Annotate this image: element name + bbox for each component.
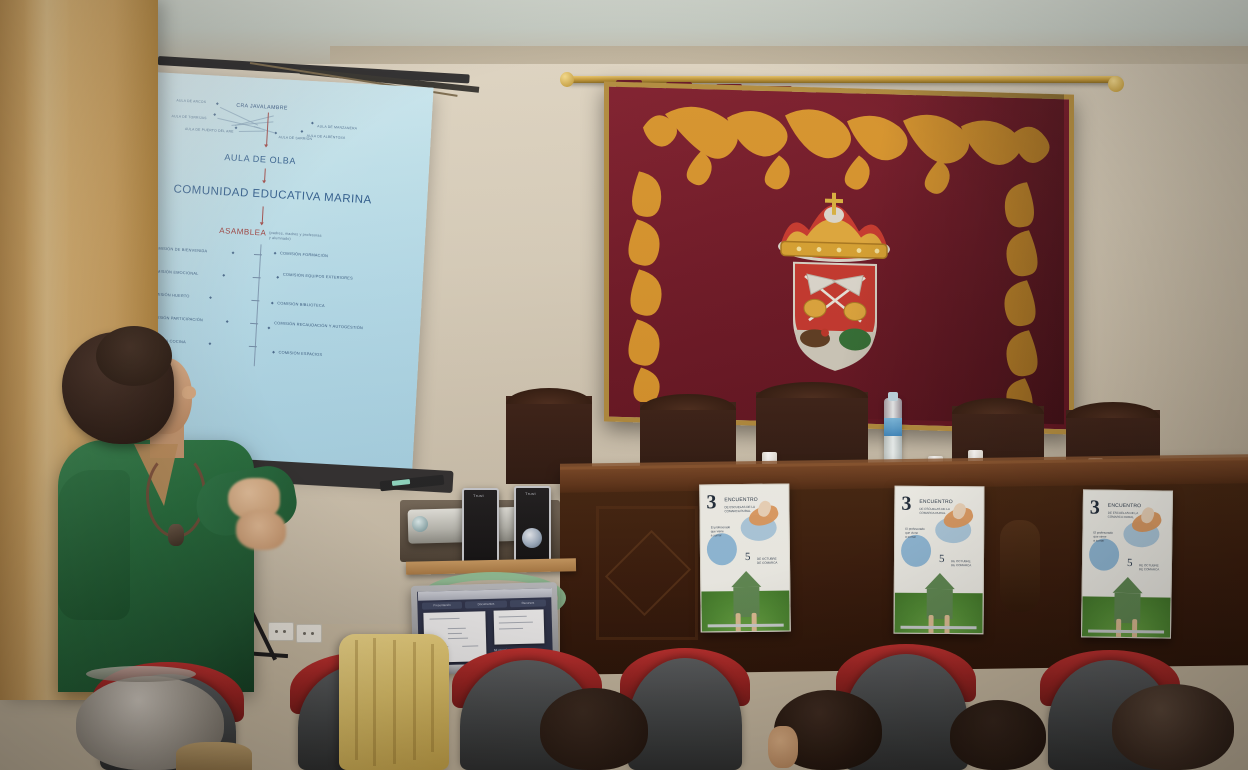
tapestry-shading (604, 82, 1064, 425)
poster-body: El profesorado que viene a sumar (711, 525, 731, 537)
poster-title: ENCUENTRO (1108, 503, 1142, 509)
poster-cloud (1089, 538, 1119, 570)
slide-commission-right: COMISIÓN BIBLIOTECA (277, 300, 325, 308)
slide-arrow-head (264, 144, 268, 147)
poster-cloud (901, 535, 931, 567)
poster-subtitle: DE ESCUELAS DE LA COMARCA RURAL (1108, 511, 1139, 520)
poster-number: 3 (901, 493, 911, 516)
presenter-hand (236, 510, 286, 550)
slide-commission-bullet (272, 351, 275, 354)
slide-commission-bullet (209, 342, 212, 345)
audience-hand (768, 726, 798, 768)
poster-house-leg (944, 615, 949, 634)
wall-socket (268, 622, 294, 641)
bottle-label (884, 418, 902, 436)
slide-level3-note: (padres, madres y profesoras y alumnado) (269, 231, 322, 244)
poster-house-leg (928, 615, 933, 634)
slide-arrow-head (260, 222, 264, 225)
slide-commission-right: COMISIÓN FORMACIÓN (280, 250, 328, 258)
bottle-cap (888, 392, 898, 401)
speaker-brand-label: Trust (525, 491, 536, 496)
presenter-nose (182, 386, 196, 399)
poster-house-leg (752, 613, 757, 633)
slide-satellite-bullet (311, 122, 314, 125)
slide-arrow-head (262, 180, 266, 183)
poster-subtitle: DE ESCUELAS DE LA COMARCA RURAL (919, 507, 950, 515)
slide-level3: ASAMBLEA (219, 226, 267, 238)
laptop-tab[interactable]: Recursos (510, 599, 546, 607)
audience-head (950, 700, 1046, 770)
slide-satellite: AULA DE MANZANERA (317, 124, 357, 130)
event-poster[interactable]: 3 ENCUENTRO DE ESCUELAS DE LA COMARCA RU… (893, 486, 984, 635)
slide-commission-right: COMISIÓN ESPACIOS (278, 350, 322, 357)
slide-connector (239, 131, 265, 132)
table-ornament (1000, 520, 1040, 612)
poster-day: 5 (939, 553, 945, 565)
desktop-speaker[interactable]: Trust (514, 486, 551, 562)
event-poster[interactable]: 3 ENCUENTRO DE ESCUELAS DE LA COMARCA RU… (1081, 489, 1173, 638)
projector-lens-icon (412, 516, 428, 532)
audience-head (540, 688, 648, 770)
slide-satellite-bullet (213, 113, 216, 116)
poster-day: 5 (1127, 557, 1133, 569)
slide-commission-bullet (232, 251, 235, 254)
poster-house-roof (731, 571, 761, 587)
draped-jacket[interactable] (339, 634, 449, 770)
slide-tick (254, 254, 262, 255)
slide-satellite: AULA DE ARCOS (176, 98, 206, 104)
poster-house-leg (1132, 619, 1137, 639)
poster-number: 3 (706, 491, 716, 514)
slide-network-root: CRA JAVALAMBRE (236, 103, 288, 112)
speaker-brand-label: Trust (473, 493, 484, 498)
slide-commission-bullet (222, 274, 225, 277)
slide-commission-bullet (226, 320, 229, 323)
audience-shoulder (176, 742, 252, 770)
laptop-tab[interactable]: Presentación (422, 602, 462, 610)
poster-body: El profesorado que viene a sumar (1093, 531, 1113, 543)
slide-tick (253, 277, 261, 278)
slide-commission-bullet (267, 327, 270, 330)
poster-day-label: DE OCTUBRE DE COMARCA (1139, 563, 1159, 571)
slide-commission-right: COMISIÓN RECAUDACIÓN Y AUTOGESTIÓN (274, 321, 364, 331)
curtain-rod-finial (1108, 76, 1124, 92)
pendant-icon (168, 524, 184, 546)
curtain-rod-finial (560, 72, 574, 87)
slide-satellite: AULA DE TORRIJAS (171, 114, 206, 120)
slide-commission-right: COMISIÓN EQUIPOS EXTERIORES (283, 273, 369, 283)
slide-level1: AULA DE OLBA (224, 152, 296, 166)
slide-tick (249, 346, 257, 347)
poster-day-label: DE OCTUBRE DE COMARCA (757, 557, 777, 565)
wall-socket (296, 624, 322, 643)
audience-glasses-icon (86, 666, 196, 682)
poster-title: ENCUENTRO (919, 499, 953, 505)
poster-house-roof (925, 573, 955, 589)
slide-level2: COMUNIDAD EDUCATIVA MARINA (173, 183, 372, 206)
poster-day-label: DE OCTUBRE DE COMARCA (951, 559, 971, 567)
poster-cloud (707, 533, 737, 565)
poster-footer-bar (901, 626, 977, 630)
slide-satellite: AULA DE PUERTO DEL ARE (185, 127, 234, 134)
audience-head (1112, 684, 1234, 770)
slide-commission-bullet (271, 302, 274, 305)
presenter-hair-front (96, 326, 172, 386)
poster-day: 5 (745, 551, 751, 563)
desktop-speaker[interactable]: Trust (462, 488, 499, 564)
speaker-cone-icon (522, 528, 542, 548)
slide-satellite-bullet (235, 126, 238, 129)
laptop-document-pane[interactable] (494, 609, 545, 644)
slide-spine (254, 244, 262, 366)
slide-tick (250, 323, 258, 324)
event-poster[interactable]: 3 ENCUENTRO DE ESCUELAS DE LA COMARCA RU… (699, 484, 791, 633)
slide-commission-left: COMISIÓN DE BIENVENIDA (152, 245, 207, 253)
slide-satellite-bullet (301, 130, 304, 133)
photo-scene: CRA JAVALAMBRE AULA DE ARCOS AULA DE TOR… (0, 0, 1248, 770)
poster-body: El profesorado que viene a sumar (905, 527, 925, 539)
slide-commission-bullet (209, 296, 212, 299)
slide-commission-bullet (276, 276, 279, 279)
slide-satellite-bullet (216, 102, 219, 105)
poster-subtitle: DE ESCUELAS DE LA COMARCA RURAL (724, 505, 755, 513)
poster-house-roof (1113, 577, 1143, 593)
poster-title: ENCUENTRO (724, 497, 758, 503)
presenter-sleeve (58, 470, 130, 620)
poster-number: 3 (1090, 496, 1100, 519)
poster-house-leg (736, 613, 741, 632)
slide-commission-bullet (274, 252, 277, 255)
laptop-tab[interactable]: Documentos (465, 600, 507, 608)
poster-house-leg (1116, 619, 1121, 639)
slide-tick (251, 300, 259, 301)
